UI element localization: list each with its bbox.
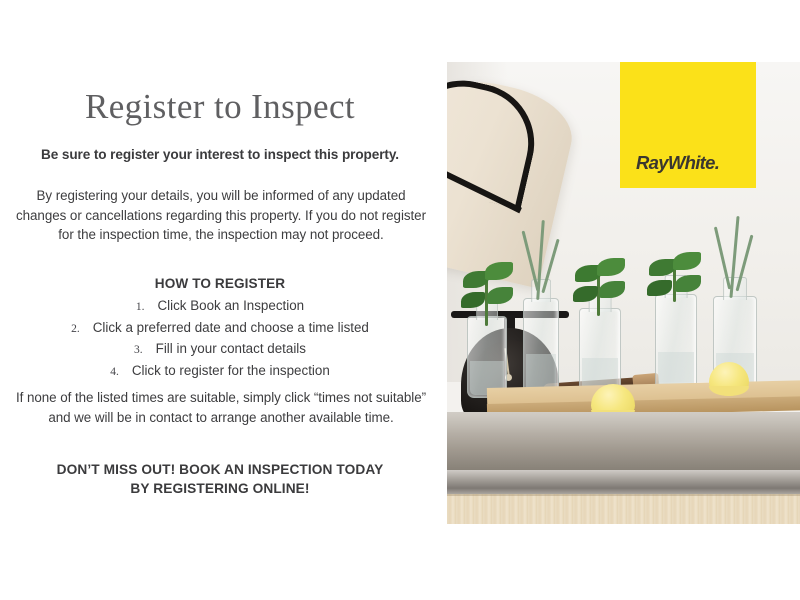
step-number: 2. (71, 323, 93, 335)
list-item: 3.Fill in your contact details (10, 339, 430, 361)
ray-white-logo: RayWhite. (636, 152, 719, 174)
how-to-register-heading: HOW TO REGISTER (0, 276, 440, 291)
registration-info-paragraph: By registering your details, you will be… (14, 186, 428, 245)
cabinet-panel (447, 494, 800, 524)
herb-bottle (467, 316, 507, 398)
closing-call-to-action: DON’T MISS OUT! BOOK AN INSPECTION TODAY… (0, 461, 440, 498)
list-item: 4.Click to register for the inspection (10, 361, 430, 383)
step-number: 4. (110, 366, 132, 378)
page-title: Register to Inspect (0, 88, 440, 127)
times-not-suitable-paragraph: If none of the listed times are suitable… (14, 388, 428, 427)
counter-gloss-reflection (447, 412, 800, 474)
cabinet-top-line (447, 494, 800, 496)
how-to-register-steps: 1.Click Book an Inspection 2.Click a pre… (10, 296, 430, 382)
step-text: Click to register for the inspection (132, 363, 330, 378)
property-photo: RayWhite. (447, 62, 800, 524)
step-text: Click a preferred date and choose a time… (93, 320, 369, 335)
closing-line-1: DON’T MISS OUT! BOOK AN INSPECTION TODAY (0, 461, 440, 480)
list-item: 2.Click a preferred date and choose a ti… (10, 318, 430, 340)
lead-statement: Be sure to register your interest to ins… (0, 147, 440, 162)
closing-line-2: BY REGISTERING ONLINE! (0, 480, 440, 499)
counter-metal-edge (447, 470, 800, 496)
flyer-text-panel: Register to Inspect Be sure to register … (0, 0, 440, 600)
herb-bottle (523, 298, 559, 398)
lemon-half (709, 362, 749, 396)
step-text: Fill in your contact details (156, 341, 306, 356)
list-item: 1.Click Book an Inspection (10, 296, 430, 318)
step-number: 1. (136, 301, 158, 313)
step-number: 3. (134, 344, 156, 356)
step-text: Click Book an Inspection (157, 298, 304, 313)
ray-white-sign: RayWhite. (620, 62, 756, 188)
